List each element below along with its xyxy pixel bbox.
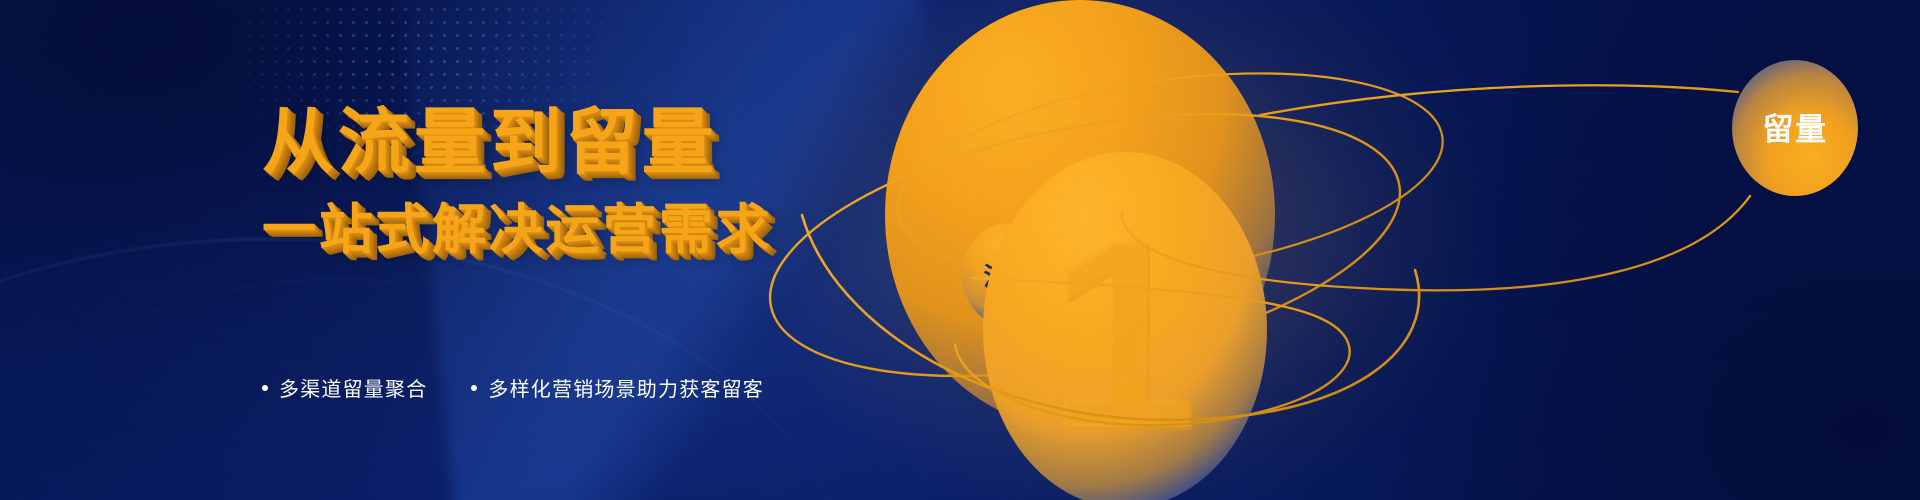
list-item: 多样化营销场景助力获客留客 [471, 373, 764, 402]
feature-bullet-list: 多渠道留量聚合 多样化营销场景助力获客留客 [262, 373, 764, 402]
banner-headline: 从流量到留量 [262, 104, 718, 182]
bullet-dot-icon [471, 385, 477, 391]
promo-banner: 从流量到留量 一站式解决运营需求 多渠道留量聚合 多样化营销场景助力获客留客 [0, 0, 1920, 500]
bullet-dot-icon [262, 385, 268, 391]
front-sphere-numeral-highlight: 1 [1047, 184, 1197, 485]
sphere-illustration: 流量 留量 1 1 [740, 0, 1920, 500]
banner-subheadline: 一站式解决运营需求 [262, 200, 772, 260]
sphere-label-right-text: 留量 [1763, 112, 1828, 147]
list-item: 多渠道留量聚合 [262, 373, 427, 402]
bullet-label: 多样化营销场景助力获客留客 [488, 373, 764, 402]
bullet-label: 多渠道留量聚合 [279, 373, 427, 402]
